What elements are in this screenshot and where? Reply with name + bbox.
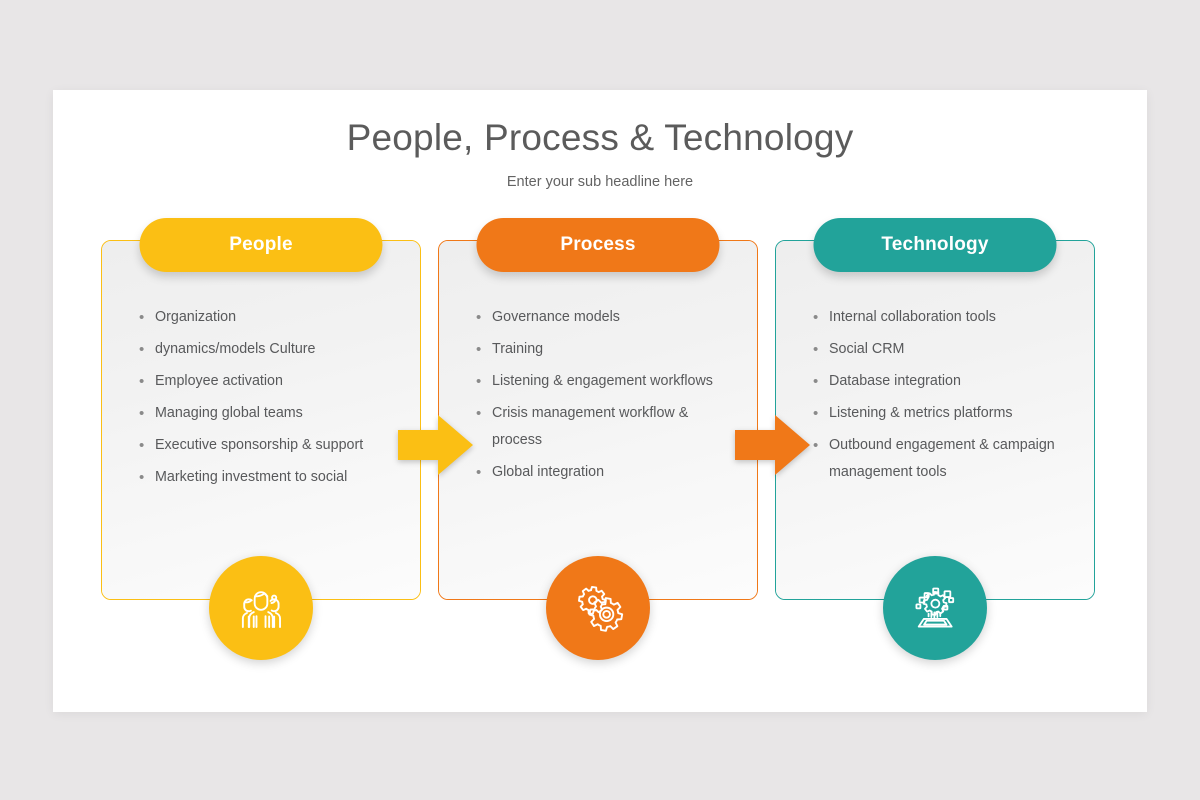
list-item: • Organization xyxy=(139,304,401,331)
list-item: • Executive sponsorship & support xyxy=(139,432,401,459)
list-item-label: Database integration xyxy=(829,368,1075,395)
bullet-dot-icon: • xyxy=(139,400,155,427)
list-item-label: Crisis management workflow & process xyxy=(492,400,738,454)
pill-label-people: People xyxy=(229,234,293,256)
list-item-label: Employee activation xyxy=(155,368,401,395)
list-item: • Database integration xyxy=(813,368,1075,395)
pill-header-people[interactable]: People xyxy=(140,218,383,272)
bullet-dot-icon: • xyxy=(476,304,492,331)
list-item-label: Outbound engagement & campaign managemen… xyxy=(829,432,1075,486)
list-item-label: Internal collaboration tools xyxy=(829,304,1075,331)
arrow-process-to-technology xyxy=(735,414,811,476)
pill-label-technology: Technology xyxy=(881,234,988,256)
page-subtitle: Enter your sub headline here xyxy=(53,174,1147,190)
list-item: • Managing global teams xyxy=(139,400,401,427)
bullet-dot-icon: • xyxy=(813,368,829,395)
heading-block: People, Process & Technology Enter your … xyxy=(53,118,1147,190)
bullet-dot-icon: • xyxy=(476,368,492,395)
column-technology: Technology • Internal collaboration tool… xyxy=(775,218,1095,648)
list-item-label: Marketing investment to social xyxy=(155,464,401,491)
bullet-list-process: • Governance models • Training • Listeni… xyxy=(476,304,738,491)
list-item: • Governance models xyxy=(476,304,738,331)
list-item-label: Listening & metrics platforms xyxy=(829,400,1075,427)
icon-badge-people[interactable] xyxy=(209,556,313,660)
bullet-dot-icon: • xyxy=(813,304,829,331)
column-process: Process • Governance models • Training •… xyxy=(438,218,758,648)
pill-header-process[interactable]: Process xyxy=(477,218,720,272)
list-item-label: Global integration xyxy=(492,459,738,486)
bullet-dot-icon: • xyxy=(813,432,829,459)
list-item: • Listening & engagement workflows xyxy=(476,368,738,395)
page-title: People, Process & Technology xyxy=(53,118,1147,159)
arrow-people-to-process xyxy=(398,414,474,476)
list-item: • Employee activation xyxy=(139,368,401,395)
bullet-dot-icon: • xyxy=(476,459,492,486)
list-item-label: Training xyxy=(492,336,738,363)
bullet-dot-icon: • xyxy=(139,304,155,331)
bullet-list-people: • Organization • dynamics/models Culture… xyxy=(139,304,401,496)
icon-badge-process[interactable] xyxy=(546,556,650,660)
group-people-icon xyxy=(232,579,290,637)
bullet-dot-icon: • xyxy=(139,432,155,459)
list-item: • Training xyxy=(476,336,738,363)
list-item-label: Executive sponsorship & support xyxy=(155,432,401,459)
list-item: • dynamics/models Culture xyxy=(139,336,401,363)
bullet-dot-icon: • xyxy=(476,400,492,427)
list-item-label: Organization xyxy=(155,304,401,331)
pill-header-technology[interactable]: Technology xyxy=(814,218,1057,272)
list-item-label: dynamics/models Culture xyxy=(155,336,401,363)
list-item-label: Managing global teams xyxy=(155,400,401,427)
list-item: • Social CRM xyxy=(813,336,1075,363)
list-item: • Listening & metrics platforms xyxy=(813,400,1075,427)
bullet-dot-icon: • xyxy=(139,464,155,491)
tech-platform-icon xyxy=(906,579,964,637)
list-item: • Marketing investment to social xyxy=(139,464,401,491)
bullet-dot-icon: • xyxy=(139,368,155,395)
list-item: • Global integration xyxy=(476,459,738,486)
bullet-dot-icon: • xyxy=(813,336,829,363)
gears-icon xyxy=(569,579,627,637)
bullet-dot-icon: • xyxy=(139,336,155,363)
slide-canvas: People, Process & Technology Enter your … xyxy=(53,90,1147,712)
list-item-label: Social CRM xyxy=(829,336,1075,363)
bullet-list-technology: • Internal collaboration tools • Social … xyxy=(813,304,1075,491)
list-item: • Internal collaboration tools xyxy=(813,304,1075,331)
bullet-dot-icon: • xyxy=(813,400,829,427)
column-people: People • Organization • dynamics/models … xyxy=(101,218,421,648)
list-item: • Crisis management workflow & process xyxy=(476,400,738,454)
bullet-dot-icon: • xyxy=(476,336,492,363)
list-item-label: Listening & engagement workflows xyxy=(492,368,738,395)
pill-label-process: Process xyxy=(560,234,635,256)
icon-badge-technology[interactable] xyxy=(883,556,987,660)
list-item: • Outbound engagement & campaign managem… xyxy=(813,432,1075,486)
columns-container: People • Organization • dynamics/models … xyxy=(101,218,1099,648)
list-item-label: Governance models xyxy=(492,304,738,331)
